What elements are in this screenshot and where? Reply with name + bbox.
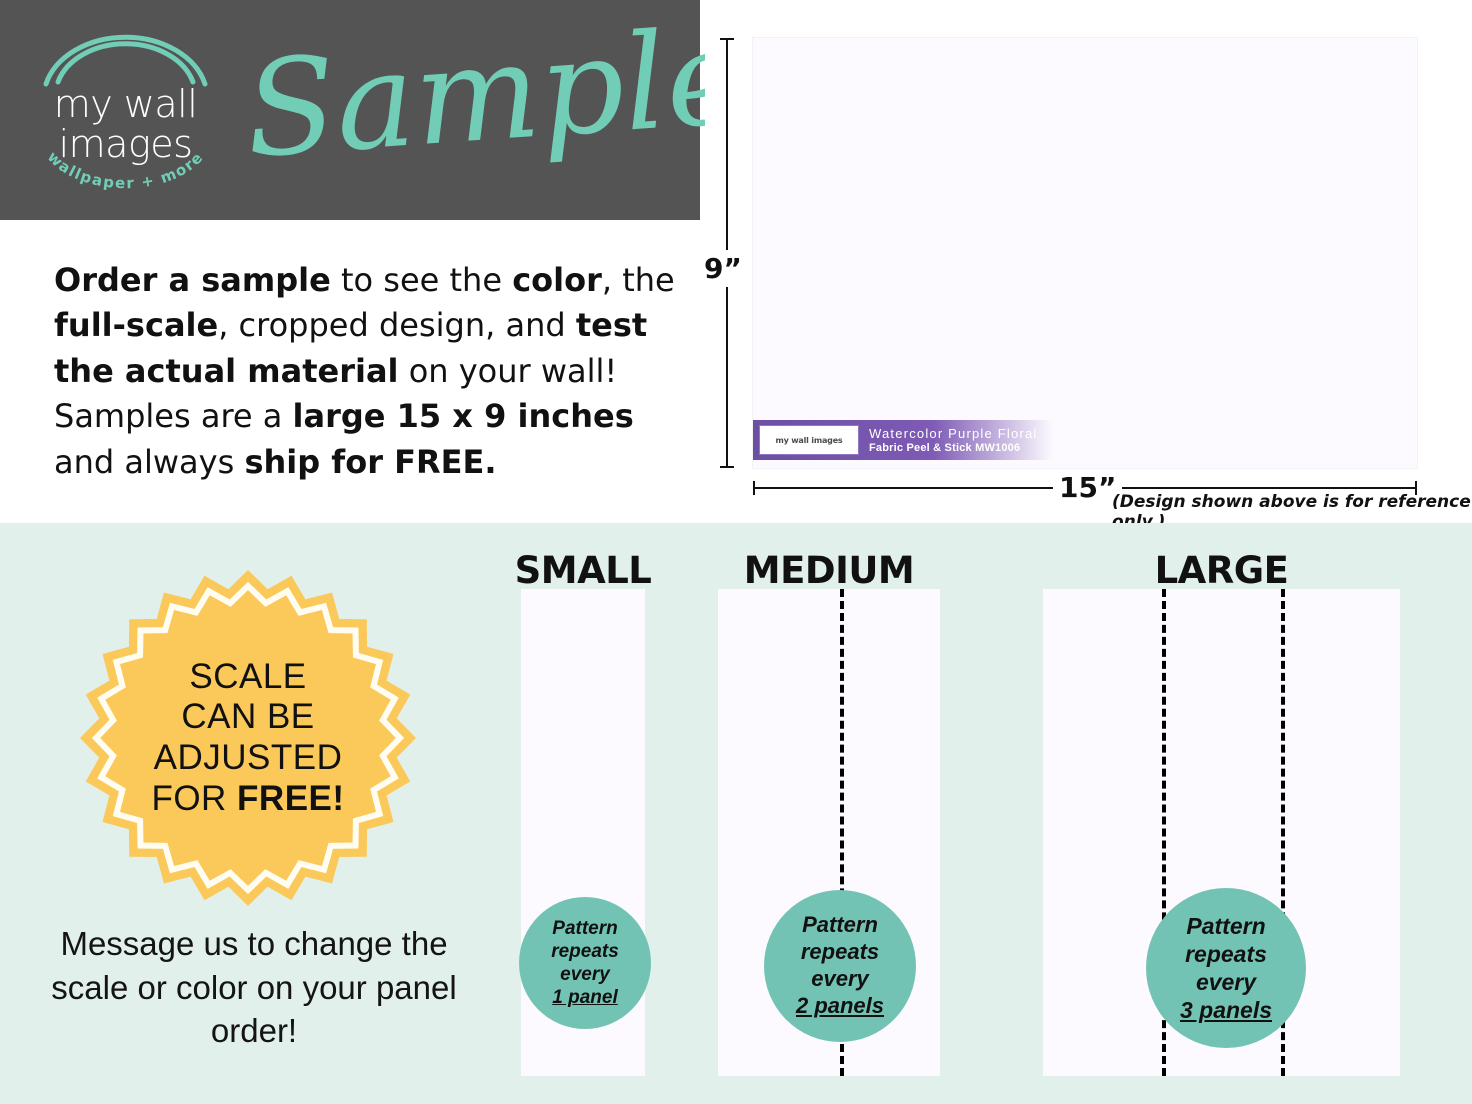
- repeat-badge-small: Patternrepeatsevery1 panel: [519, 897, 651, 1029]
- message-us-text: Message us to change the scale or color …: [44, 922, 464, 1053]
- height-dimension-label: 9”: [700, 250, 746, 287]
- badge-text: SCALE CAN BE ADJUSTED FOR FREE!: [78, 568, 418, 908]
- column-title-medium: MEDIUM: [679, 549, 979, 592]
- label-brand-mark: my wall images: [759, 425, 859, 455]
- repeat-line-2: repeats: [1185, 940, 1267, 968]
- svg-text:Samples: Samples: [240, 18, 705, 188]
- repeat-line-3: every: [560, 963, 610, 986]
- repeat-count: 1 panel: [552, 986, 617, 1009]
- repeat-line-1: Pattern: [552, 917, 617, 940]
- product-name: Watercolor Purple Floral: [869, 426, 1037, 441]
- repeat-line-1: Pattern: [1186, 912, 1265, 940]
- repeat-count: 2 panels: [796, 993, 884, 1020]
- repeat-line-2: repeats: [801, 939, 879, 966]
- column-title-large: LARGE: [1072, 549, 1372, 592]
- product-meta: Fabric Peel & Stick MW1006: [869, 442, 1037, 454]
- badge-line-4b: FREE!: [237, 779, 345, 818]
- samples-script-title: Samples: [235, 18, 705, 203]
- badge-line-3: ADJUSTED: [154, 738, 343, 779]
- badge-line-2: CAN BE: [181, 697, 314, 738]
- floral-pattern: [753, 38, 1417, 468]
- intro-paragraph: Order a sample to see the color, the ful…: [54, 258, 694, 485]
- sample-preview-image: my wall images Watercolor Purple Floral …: [753, 38, 1417, 468]
- repeat-line-3: every: [811, 966, 869, 993]
- sample-info-graphic: my wall images wallpaper + more Samples …: [0, 0, 1472, 1104]
- repeat-count: 3 panels: [1180, 996, 1272, 1024]
- logo-line-1: my wall: [28, 82, 223, 126]
- repeat-badge-medium: Patternrepeatsevery2 panels: [764, 890, 916, 1042]
- svg-text:wallpaper + more: wallpaper + more: [44, 148, 207, 192]
- brand-logo: my wall images wallpaper + more: [28, 22, 223, 202]
- repeat-line-1: Pattern: [802, 912, 878, 939]
- repeat-badge-large: Patternrepeatsevery3 panels: [1146, 888, 1306, 1048]
- header-bar: my wall images wallpaper + more Samples: [0, 0, 700, 220]
- repeat-line-2: repeats: [551, 940, 619, 963]
- scale-free-badge: SCALE CAN BE ADJUSTED FOR FREE!: [78, 568, 418, 908]
- badge-line-1: SCALE: [189, 657, 306, 698]
- product-label: my wall images Watercolor Purple Floral …: [753, 420, 1053, 460]
- badge-line-4: FOR FREE!: [151, 779, 344, 820]
- badge-line-4a: FOR: [151, 779, 237, 818]
- logo-tagline: wallpaper + more: [28, 148, 223, 208]
- repeat-line-3: every: [1196, 968, 1256, 996]
